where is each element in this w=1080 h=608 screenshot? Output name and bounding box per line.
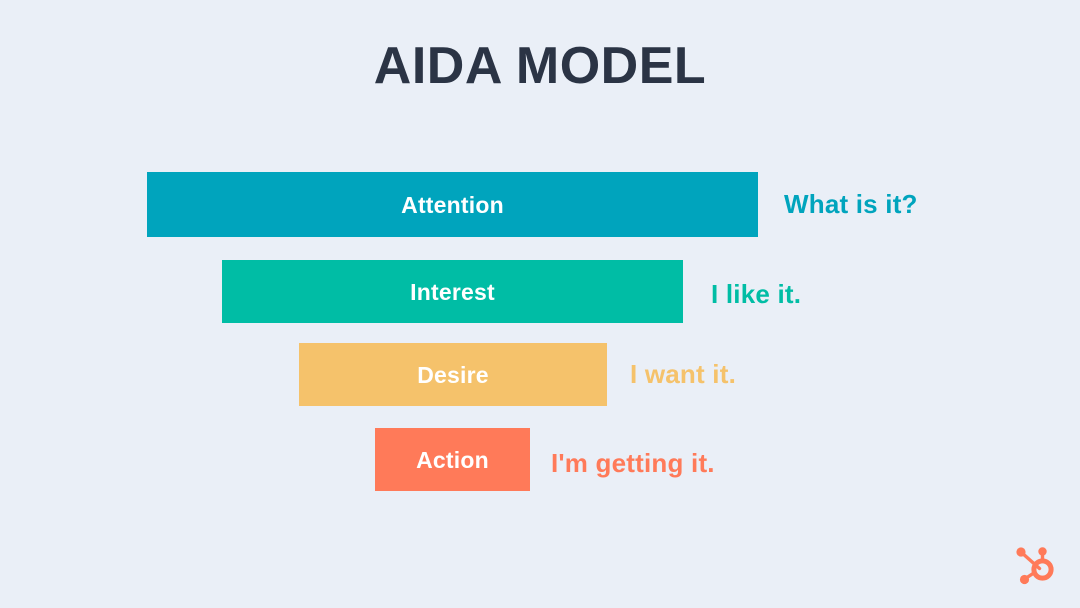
funnel-caption-desire: I want it. xyxy=(630,359,736,390)
hubspot-sprocket-icon xyxy=(1012,544,1058,588)
funnel-bar-desire[interactable]: Desire xyxy=(299,343,607,406)
funnel-bar-label-action: Action xyxy=(375,447,530,474)
funnel-bar-action[interactable]: Action xyxy=(375,428,530,491)
funnel-bar-interest[interactable]: Interest xyxy=(222,260,683,323)
funnel-caption-action: I'm getting it. xyxy=(551,448,715,479)
funnel-bar-label-interest: Interest xyxy=(222,279,683,306)
funnel-caption-interest: I like it. xyxy=(711,279,801,310)
aida-funnel-chart: Attention What is it? Interest I like it… xyxy=(0,0,1080,608)
funnel-bar-attention[interactable]: Attention xyxy=(147,172,758,237)
funnel-caption-attention: What is it? xyxy=(784,189,918,220)
funnel-bar-label-desire: Desire xyxy=(299,362,607,389)
slide-canvas: AIDA MODEL Attention What is it? Interes… xyxy=(0,0,1080,608)
funnel-bar-label-attention: Attention xyxy=(147,192,758,219)
